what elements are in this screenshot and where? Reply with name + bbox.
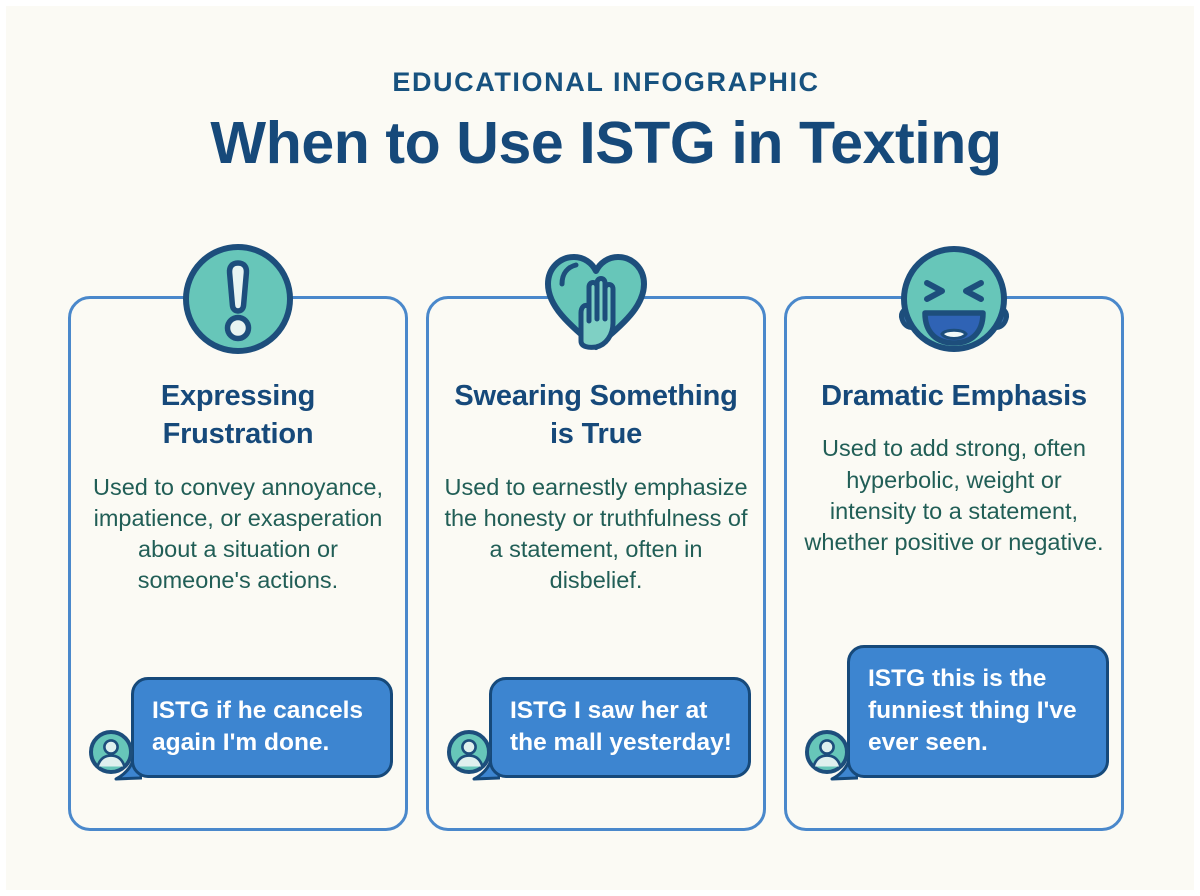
chat-bubble-message: ISTG I saw her at the mall yesterday! [489,677,751,778]
card-content: Dramatic Emphasis Used to add strong, of… [787,377,1121,558]
card-dramatic-emphasis: Dramatic Emphasis Used to add strong, of… [784,296,1124,831]
card-title: Swearing Something is True [443,377,749,454]
laughing-crying-face-icon [892,237,1016,361]
poster-kicker: EDUCATIONAL INFOGRAPHIC [6,68,1200,98]
chat-bubble-wrapper: ISTG if he cancels again I'm done. [131,677,393,778]
user-avatar-icon [803,728,851,776]
chat-bubble-message: ISTG this is the funniest thing I've eve… [847,645,1109,778]
poster-header: EDUCATIONAL INFOGRAPHIC When to Use ISTG… [6,68,1200,176]
card-content: Swearing Something is True Used to earne… [429,377,763,597]
card-body: Used to earnestly emphasize the honesty … [443,472,749,597]
card-body: Used to convey annoyance, impatience, or… [85,472,391,597]
card-title: Expressing Frustration [85,377,391,454]
card-body: Used to add strong, often hyperbolic, we… [801,433,1107,558]
infographic-poster: EDUCATIONAL INFOGRAPHIC When to Use ISTG… [0,0,1200,896]
chat-example: ISTG if he cancels again I'm done. [87,677,393,778]
user-avatar-icon [87,728,135,776]
chat-bubble-message: ISTG if he cancels again I'm done. [131,677,393,778]
chat-bubble-wrapper: ISTG I saw her at the mall yesterday! [489,677,751,778]
card-expressing-frustration: Expressing Frustration Used to convey an… [68,296,408,831]
card-title: Dramatic Emphasis [801,377,1107,415]
hand-on-heart-icon [534,237,658,361]
card-swearing-something-is-true: Swearing Something is True Used to earne… [426,296,766,831]
chat-example: ISTG this is the funniest thing I've eve… [803,645,1109,778]
card-content: Expressing Frustration Used to convey an… [71,377,405,597]
chat-bubble-wrapper: ISTG this is the funniest thing I've eve… [847,645,1109,778]
exclamation-circle-icon [176,237,300,361]
chat-example: ISTG I saw her at the mall yesterday! [445,677,751,778]
user-avatar-icon [445,728,493,776]
card-rail: Expressing Frustration Used to convey an… [68,296,1124,831]
poster-headline: When to Use ISTG in Texting [6,110,1200,176]
